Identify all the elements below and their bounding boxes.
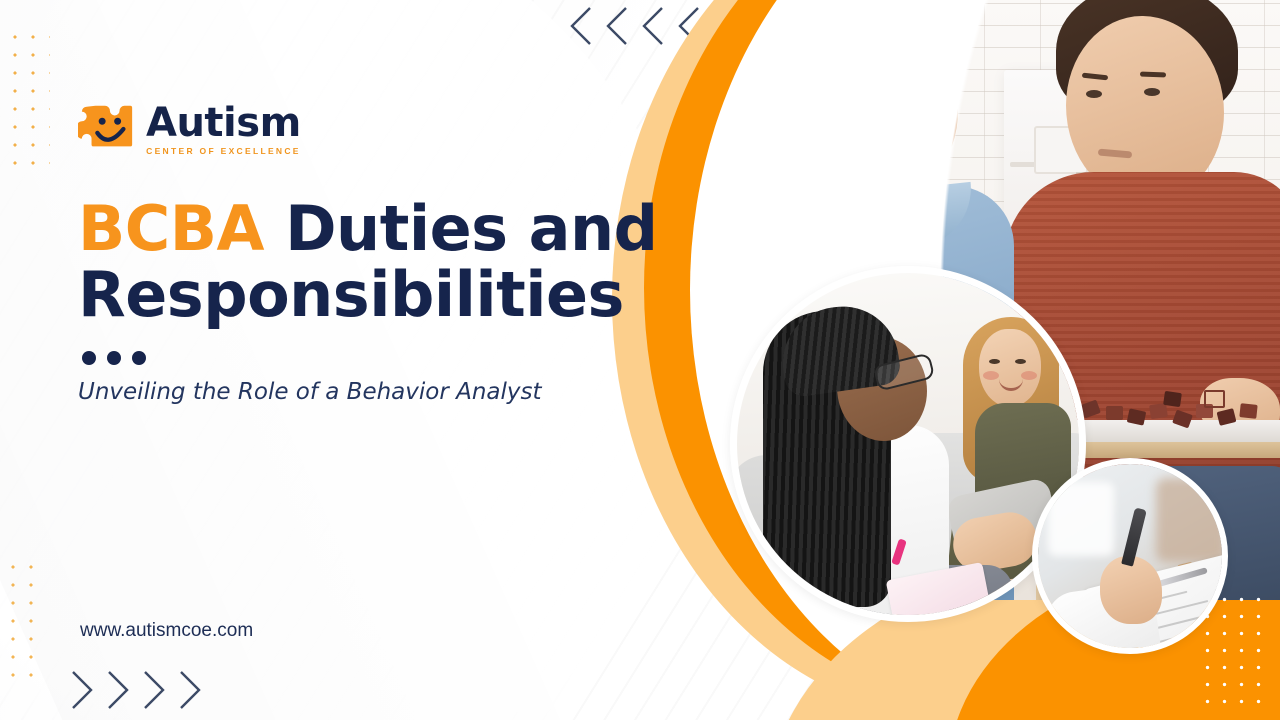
letter-tile [1106,406,1123,420]
slide-canvas: R [0,0,1280,720]
chevron-left-icon [602,4,632,48]
letter-tile [1239,403,1257,419]
separator-dot [82,351,96,365]
logo-tagline: CENTER OF EXCELLENCE [146,147,301,156]
chevron-right-decoration [66,668,204,712]
client-eye [989,359,1000,364]
background-blur-shape [1048,482,1114,556]
boy-eye [1086,90,1102,98]
background-blur-shape [1156,478,1226,562]
title-accent-word: BCBA [78,192,264,265]
chevron-right-icon [174,668,204,712]
letter-tile [1204,390,1225,408]
client-eye [1015,359,1026,364]
page-subtitle: Unveiling the Role of a Behavior Analyst [78,379,678,405]
chevron-right-icon [138,668,168,712]
chevron-left-icon [566,4,596,48]
man-beard [820,112,936,200]
page-title: BCBA Duties and Responsibilities [78,196,678,329]
logo-wordmark: Autism [146,103,301,143]
chevron-left-icon [638,4,668,48]
man-ear [918,74,952,116]
website-url[interactable]: www.autismcoe.com [80,620,253,642]
dot-grid-icon [2,556,42,686]
hand-writing-clipboard-photo [1032,458,1228,654]
brand-logo[interactable]: Autism CENTER OF EXCELLENCE [78,100,301,158]
puzzle-smiley-icon [78,100,136,158]
boy-eyebrow [1140,72,1166,78]
chevron-right-icon [66,668,96,712]
client-cheek [983,371,999,380]
client-cheek [1021,371,1037,380]
boy-eye [1144,88,1160,96]
client-face [979,329,1041,407]
separator-dot [132,351,146,365]
logo-text: Autism CENTER OF EXCELLENCE [146,103,301,156]
letter-tile [1163,391,1182,407]
chevron-right-icon [102,668,132,712]
separator-dot [107,351,121,365]
letter-tile [1149,403,1168,419]
dot-grid-icon [4,26,50,176]
headline-block: BCBA Duties and Responsibilities Unveili… [78,196,678,405]
dot-separator [82,351,678,365]
